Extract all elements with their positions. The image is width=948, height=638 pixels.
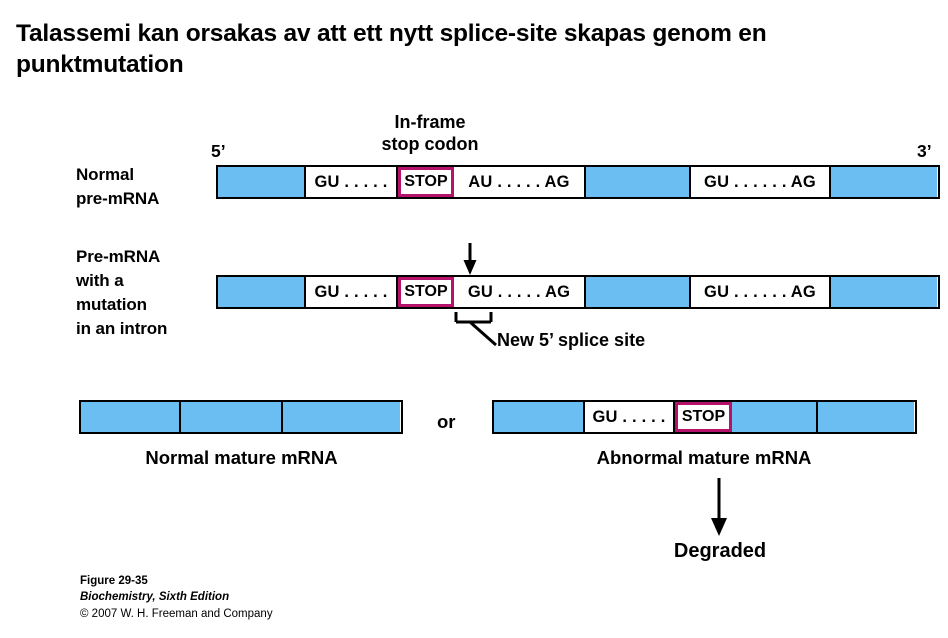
- figure-canvas: Talassemi kan orsakas av att ett nytt sp…: [0, 0, 948, 638]
- normal-pre-mrna-segment-intron-3: AU . . . . . AG: [454, 167, 586, 197]
- credit-copyright: © 2007 W. H. Freeman and Company: [80, 606, 273, 622]
- figure-credit: Figure 29-35 Biochemistry, Sixth Edition…: [80, 573, 273, 622]
- row-label-normal-line2: pre-mRNA: [76, 187, 226, 211]
- normal-pre-mrna-segment-intron-5: GU . . . . . . AG: [691, 167, 831, 197]
- normal-pre-mrna-segment-stop-codon-2: STOP: [398, 167, 454, 197]
- abnormal-mature-mrna-segment-label-2: STOP: [682, 408, 725, 426]
- normal-mature-mrna-segment-exon-0: [81, 402, 181, 432]
- normal-pre-mrna-segment-exon-6: [831, 167, 937, 197]
- page-title: Talassemi kan orsakas av att ett nytt sp…: [16, 18, 916, 81]
- row-label-mutant-line4: in an intron: [76, 317, 226, 341]
- credit-book-title: Biochemistry, Sixth Edition: [80, 589, 273, 605]
- row-label-normal-line1: Normal: [76, 163, 226, 187]
- abnormal-mature-mrna-segment-stop-codon-2: STOP: [675, 402, 732, 432]
- normal-pre-mrna-segment-label-2: STOP: [404, 173, 447, 191]
- normal-pre-mrna-segment-label-5: GU . . . . . . AG: [704, 173, 816, 192]
- mutant-pre-mrna-segment-exon-0: [218, 277, 306, 307]
- abnormal-mature-mrna-segment-exon-4: [818, 402, 914, 432]
- caption-normal-mature-mrna: Normal mature mRNA: [79, 447, 404, 469]
- three-prime-marker-row1: 3’: [917, 141, 932, 162]
- mutant-pre-mrna-segment-exon-4: [586, 277, 691, 307]
- normal-pre-mrna-segment-label-1: GU . . . . .: [315, 173, 388, 192]
- row-label-normal-pre-mrna: Normal pre-mRNA: [76, 163, 226, 211]
- normal-mature-mrna-segment-exon-1: [181, 402, 283, 432]
- normal-mature-mrna-segment-exon-2: [283, 402, 400, 432]
- normal-pre-mrna-segment-exon-4: [586, 167, 691, 197]
- mutant-pre-mrna-segment-exon-6: [831, 277, 937, 307]
- mutant-pre-mrna-segment-intron-5: GU . . . . . . AG: [691, 277, 831, 307]
- normal-pre-mrna-segment-exon-0: [218, 167, 306, 197]
- degraded-label: Degraded: [620, 540, 820, 563]
- new-splice-site-bracket-icon: [456, 312, 496, 345]
- in-frame-line2: stop codon: [330, 134, 530, 156]
- construct-normal-pre-mrna: GU . . . . .STOPAU . . . . . AGGU . . . …: [216, 165, 940, 199]
- mutant-pre-mrna-segment-label-2: STOP: [404, 283, 447, 301]
- row-label-mutant-line1: Pre-mRNA: [76, 245, 226, 269]
- in-frame-stop-codon-annotation: In-frame stop codon: [330, 112, 530, 156]
- mutant-pre-mrna-segment-label-3: GU . . . . . AG: [468, 283, 570, 302]
- new-splice-site-label: New 5’ splice site: [497, 330, 645, 351]
- construct-mutant-pre-mrna: GU . . . . .STOPGU . . . . . AGGU . . . …: [216, 275, 940, 309]
- construct-normal-mature-mrna: [79, 400, 403, 434]
- mutant-pre-mrna-segment-label-1: GU . . . . .: [315, 283, 388, 302]
- degradation-arrow-icon: [711, 478, 727, 536]
- mutant-pre-mrna-segment-stop-codon-2: STOP: [398, 277, 454, 307]
- caption-abnormal-mature-mrna: Abnormal mature mRNA: [492, 447, 916, 469]
- row-label-mutant-line2: with a: [76, 269, 226, 293]
- normal-pre-mrna-segment-intron-1: GU . . . . .: [306, 167, 398, 197]
- row-label-mutant-pre-mrna: Pre-mRNA with a mutation in an intron: [76, 245, 226, 342]
- construct-abnormal-mature-mrna: GU . . . . .STOP: [492, 400, 917, 434]
- mutant-pre-mrna-segment-label-5: GU . . . . . . AG: [704, 283, 816, 302]
- mutant-pre-mrna-segment-intron-3: GU . . . . . AG: [454, 277, 586, 307]
- abnormal-mature-mrna-segment-label-1: GU . . . . .: [593, 408, 666, 427]
- abnormal-mature-mrna-segment-intron-1: GU . . . . .: [585, 402, 675, 432]
- credit-figure-number: Figure 29-35: [80, 573, 273, 589]
- or-connector-text: or: [437, 411, 456, 433]
- in-frame-line1: In-frame: [330, 112, 530, 134]
- normal-pre-mrna-segment-label-3: AU . . . . . AG: [468, 173, 569, 192]
- five-prime-marker-row1: 5’: [211, 141, 226, 162]
- row-label-mutant-line3: mutation: [76, 293, 226, 317]
- abnormal-mature-mrna-segment-exon-0: [494, 402, 585, 432]
- abnormal-mature-mrna-segment-exon-3: [732, 402, 818, 432]
- mutant-pre-mrna-segment-intron-1: GU . . . . .: [306, 277, 398, 307]
- mutation-arrow-icon: [464, 243, 477, 275]
